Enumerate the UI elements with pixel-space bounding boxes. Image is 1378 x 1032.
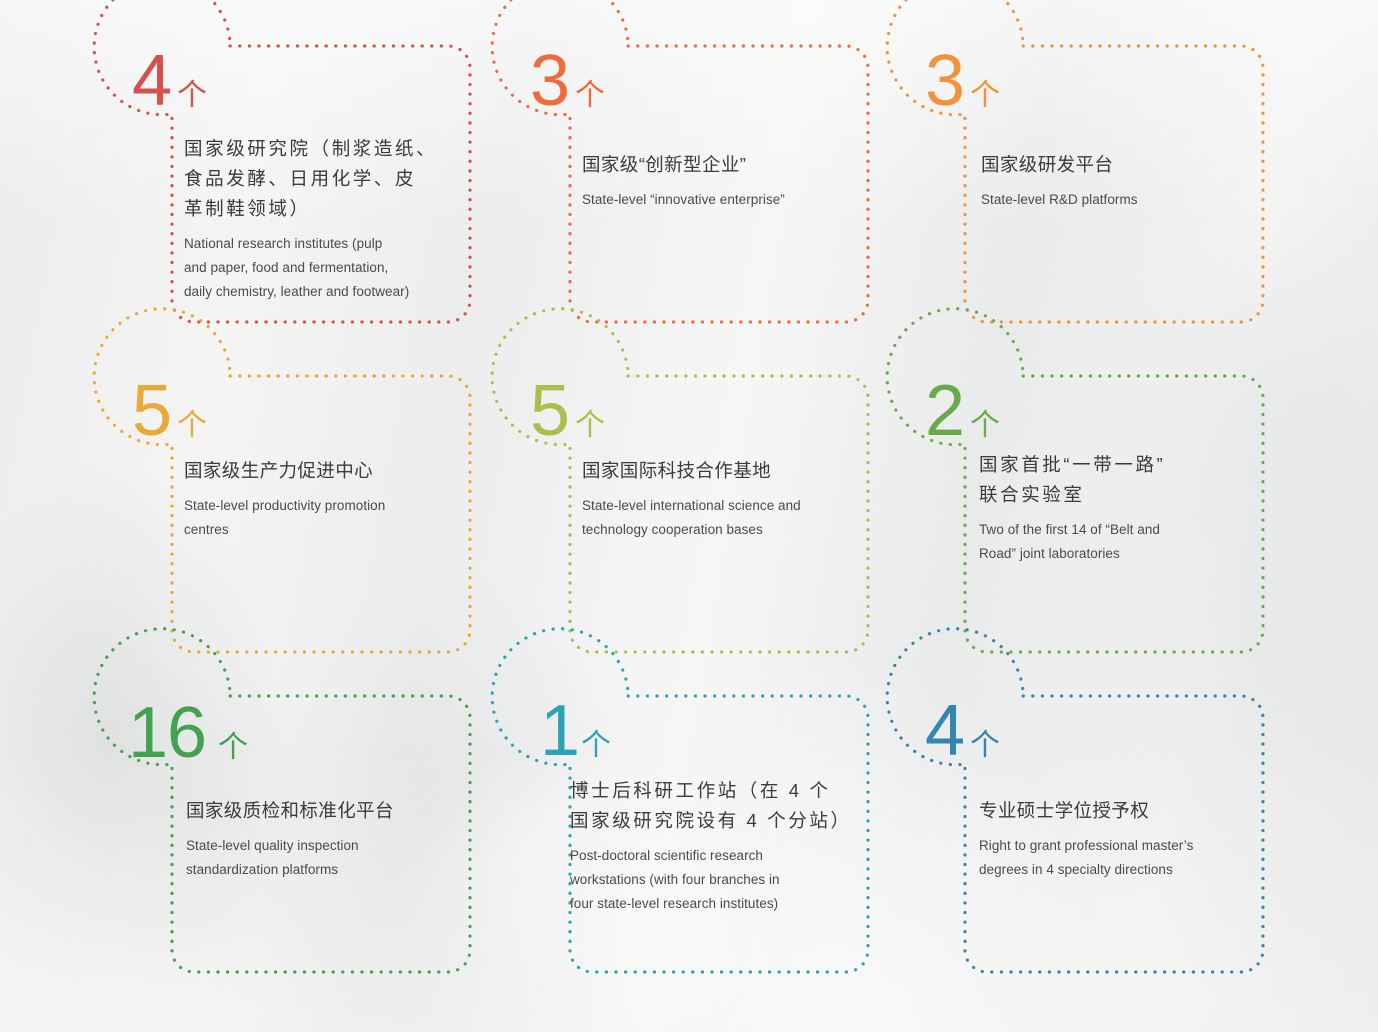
stat-value-group: 5个 [530, 378, 605, 444]
card-text-body: 国家国际科技合作基地State-level international scie… [582, 456, 850, 542]
card-title-cn-line: 联合实验室 [979, 480, 1245, 510]
card-text-body: 国家级生产力促进中心State-level productivity promo… [184, 456, 450, 542]
card-subtitle-en-line: Road” joint laboratories [979, 542, 1245, 566]
card-subtitle-en-line: State-level quality inspection [186, 834, 452, 858]
stat-card-belt-and-road-joint-laboratories: 2个国家首批“一带一路”联合实验室Two of the first 14 of … [903, 352, 1263, 652]
card-subtitle-en-line: National research institutes (pulp [184, 232, 450, 256]
stat-value-group: 4个 [925, 698, 1000, 764]
card-title-cn-line: 国家国际科技合作基地 [582, 456, 850, 486]
card-title-cn: 国家国际科技合作基地 [582, 456, 850, 486]
card-title-cn-line: 国家级研究院设有 4 个分站） [570, 806, 852, 836]
card-title-cn-line: 国家级“创新型企业” [582, 150, 848, 180]
card-subtitle-en: State-level productivity promotioncentre… [184, 494, 450, 542]
card-title-cn-line: 国家级质检和标准化平台 [186, 796, 452, 826]
card-subtitle-en-line: State-level international science and [582, 494, 850, 518]
card-title-cn: 国家级研发平台 [981, 150, 1243, 180]
card-title-cn-line: 国家首批“一带一路” [979, 450, 1245, 480]
stat-value-group: 2个 [925, 378, 1000, 444]
card-title-cn-line: 国家级研发平台 [981, 150, 1243, 180]
stat-value-group: 4个 [132, 48, 207, 114]
card-title-cn: 博士后科研工作站（在 4 个国家级研究院设有 4 个分站） [570, 776, 852, 836]
card-subtitle-en-line: centres [184, 518, 450, 542]
stat-card-post-doctoral-workstations: 1个博士后科研工作站（在 4 个国家级研究院设有 4 个分站）Post-doct… [508, 672, 868, 972]
card-subtitle-en-line: Post-doctoral scientific research [570, 844, 852, 868]
card-subtitle-en-line: Right to grant professional master’s [979, 834, 1245, 858]
stat-unit: 个 [177, 81, 207, 111]
stat-number: 4 [132, 48, 171, 114]
stat-number: 16 [128, 700, 206, 766]
stat-card-international-cooperation-bases: 5个国家国际科技合作基地State-level international sc… [508, 352, 868, 652]
stat-card-innovative-enterprise: 3个国家级“创新型企业”State-level “innovative ente… [508, 22, 868, 322]
card-title-cn-line: 国家级研究院（制浆造纸、 [184, 134, 450, 164]
stat-unit: 个 [970, 81, 1000, 111]
card-title-cn: 国家级研究院（制浆造纸、食品发酵、日用化学、皮革制鞋领域） [184, 134, 450, 224]
stat-card-national-research-institutes: 4个国家级研究院（制浆造纸、食品发酵、日用化学、皮革制鞋领域）National … [110, 22, 470, 322]
stat-unit: 个 [970, 731, 1000, 761]
card-text-body: 专业硕士学位授予权Right to grant professional mas… [979, 796, 1245, 882]
card-subtitle-en-line: degrees in 4 specialty directions [979, 858, 1245, 882]
stat-unit: 个 [575, 81, 605, 111]
stat-number: 4 [925, 698, 964, 764]
stat-unit: 个 [575, 411, 605, 441]
stat-unit: 个 [581, 731, 611, 761]
statistics-card-grid: 4个国家级研究院（制浆造纸、食品发酵、日用化学、皮革制鞋领域）National … [0, 0, 1378, 1032]
card-title-cn-line: 专业硕士学位授予权 [979, 796, 1245, 826]
card-title-cn-line: 国家级生产力促进中心 [184, 456, 450, 486]
card-subtitle-en-line: Two of the first 14 of “Belt and [979, 518, 1245, 542]
stat-card-professional-master-degrees: 4个专业硕士学位授予权Right to grant professional m… [903, 672, 1263, 972]
stat-number: 3 [530, 48, 569, 114]
card-title-cn-line: 博士后科研工作站（在 4 个 [570, 776, 852, 806]
card-subtitle-en: State-level “innovative enterprise” [582, 188, 848, 212]
card-title-cn: 国家级生产力促进中心 [184, 456, 450, 486]
card-title-cn: 国家首批“一带一路”联合实验室 [979, 450, 1245, 510]
card-subtitle-en-line: State-level productivity promotion [184, 494, 450, 518]
stat-card-quality-inspection-platforms: 16个国家级质检和标准化平台State-level quality inspec… [110, 672, 470, 972]
card-text-body: 国家级研究院（制浆造纸、食品发酵、日用化学、皮革制鞋领域）National re… [184, 134, 450, 304]
stat-value-group: 1个 [540, 698, 611, 764]
card-text-body: 国家级质检和标准化平台State-level quality inspectio… [186, 796, 452, 882]
card-subtitle-en: Right to grant professional master’sdegr… [979, 834, 1245, 882]
stat-number: 5 [530, 378, 569, 444]
stat-card-productivity-promotion-centres: 5个国家级生产力促进中心State-level productivity pro… [110, 352, 470, 652]
card-subtitle-en: State-level quality inspectionstandardiz… [186, 834, 452, 882]
stat-unit: 个 [970, 411, 1000, 441]
card-text-body: 国家首批“一带一路”联合实验室Two of the first 14 of “B… [979, 450, 1245, 566]
stat-unit: 个 [218, 733, 248, 763]
card-subtitle-en-line: and paper, food and fermentation, [184, 256, 450, 280]
stat-number: 5 [132, 378, 171, 444]
card-subtitle-en: Post-doctoral scientific researchworksta… [570, 844, 852, 916]
card-subtitle-en-line: State-level “innovative enterprise” [582, 188, 848, 212]
card-subtitle-en-line: daily chemistry, leather and footwear) [184, 280, 450, 304]
card-title-cn: 国家级质检和标准化平台 [186, 796, 452, 826]
stat-value-group: 16个 [128, 700, 248, 766]
card-subtitle-en: State-level international science andtec… [582, 494, 850, 542]
card-subtitle-en-line: State-level R&D platforms [981, 188, 1243, 212]
card-subtitle-en-line: four state-level research institutes) [570, 892, 852, 916]
stat-number: 3 [925, 48, 964, 114]
card-subtitle-en: National research institutes (pulpand pa… [184, 232, 450, 304]
stat-value-group: 3个 [530, 48, 605, 114]
card-title-cn-line: 革制鞋领域） [184, 194, 450, 224]
card-subtitle-en-line: standardization platforms [186, 858, 452, 882]
card-title-cn-line: 食品发酵、日用化学、皮 [184, 164, 450, 194]
card-subtitle-en: State-level R&D platforms [981, 188, 1243, 212]
card-title-cn: 国家级“创新型企业” [582, 150, 848, 180]
stat-value-group: 5个 [132, 378, 207, 444]
card-subtitle-en-line: workstations (with four branches in [570, 868, 852, 892]
card-subtitle-en: Two of the first 14 of “Belt andRoad” jo… [979, 518, 1245, 566]
card-title-cn: 专业硕士学位授予权 [979, 796, 1245, 826]
card-text-body: 博士后科研工作站（在 4 个国家级研究院设有 4 个分站）Post-doctor… [570, 776, 852, 916]
stat-number: 2 [925, 378, 964, 444]
card-text-body: 国家级“创新型企业”State-level “innovative enterp… [582, 150, 848, 212]
card-subtitle-en-line: technology cooperation bases [582, 518, 850, 542]
card-text-body: 国家级研发平台State-level R&D platforms [981, 150, 1243, 212]
stat-value-group: 3个 [925, 48, 1000, 114]
stat-unit: 个 [177, 411, 207, 441]
stat-card-rd-platforms: 3个国家级研发平台State-level R&D platforms [903, 22, 1263, 322]
stat-number: 1 [540, 698, 579, 764]
